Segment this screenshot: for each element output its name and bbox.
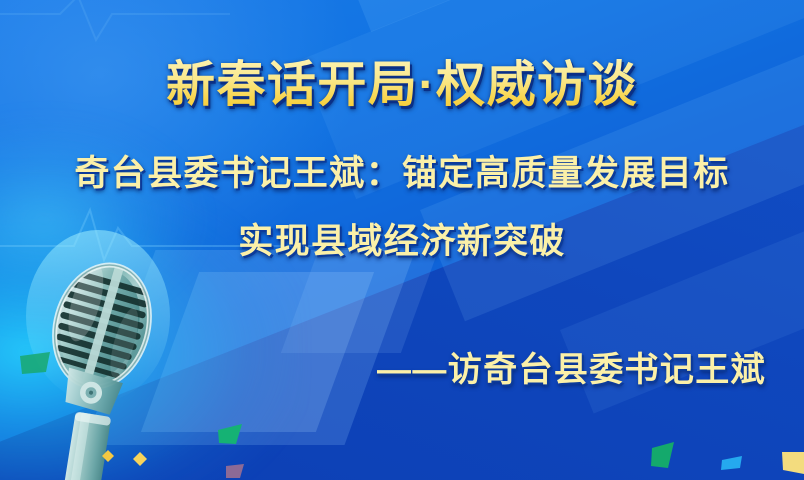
poster-title: 新春话开局·权威访谈 <box>0 56 804 114</box>
subtitle-line-2: 实现县域经济新突破 <box>0 220 804 264</box>
poster-byline: ——访奇台县委书记王斌 <box>377 348 766 392</box>
subtitle-line-1: 奇台县委书记王斌：锚定高质量发展目标 <box>0 152 804 196</box>
news-poster-banner: 新春话开局·权威访谈 奇台县委书记王斌：锚定高质量发展目标 实现县域经济新突破 … <box>0 0 804 480</box>
text-block: 新春话开局·权威访谈 奇台县委书记王斌：锚定高质量发展目标 实现县域经济新突破 … <box>0 0 804 480</box>
